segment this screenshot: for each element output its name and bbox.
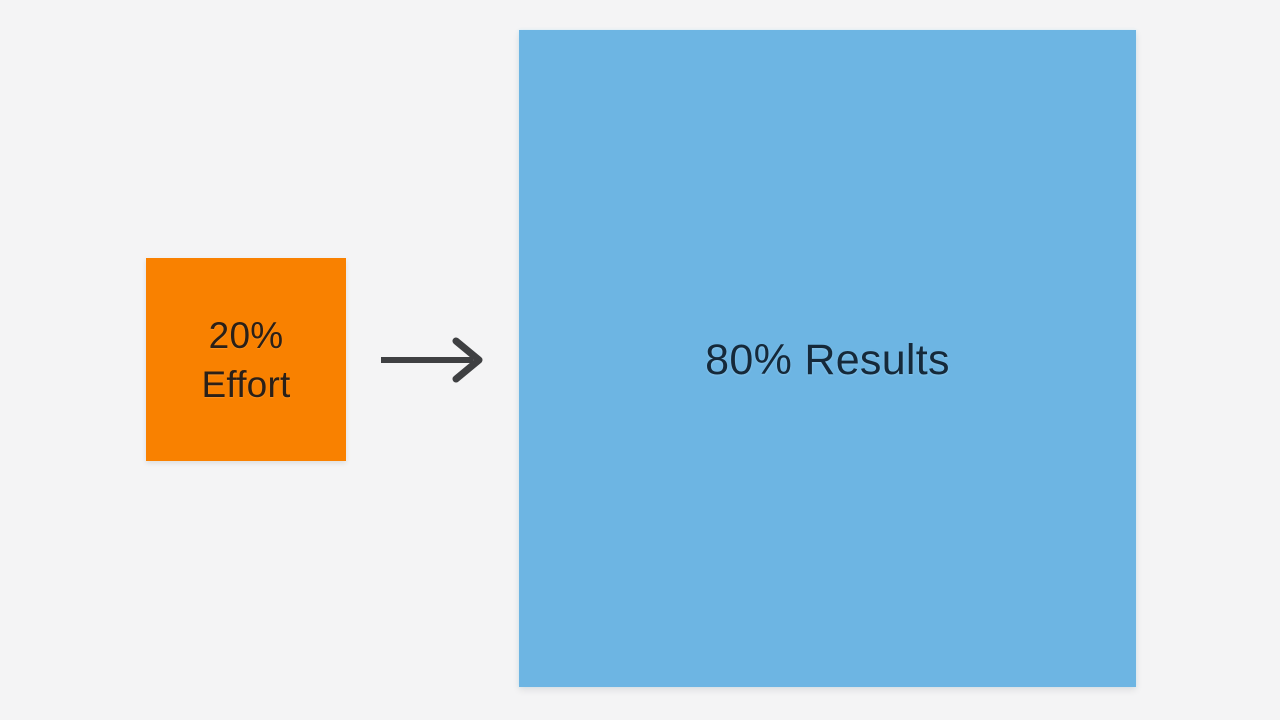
results-box[interactable]: 80% Results bbox=[519, 30, 1136, 687]
effort-box-label: Effort bbox=[202, 360, 291, 409]
results-box-label: 80% Results bbox=[705, 334, 950, 386]
effort-box-percent: 20% bbox=[209, 311, 284, 360]
effort-box[interactable]: 20% Effort bbox=[146, 258, 346, 461]
arrow-right-icon bbox=[378, 334, 488, 386]
diagram-canvas: 20% Effort 80% Results bbox=[0, 0, 1280, 720]
